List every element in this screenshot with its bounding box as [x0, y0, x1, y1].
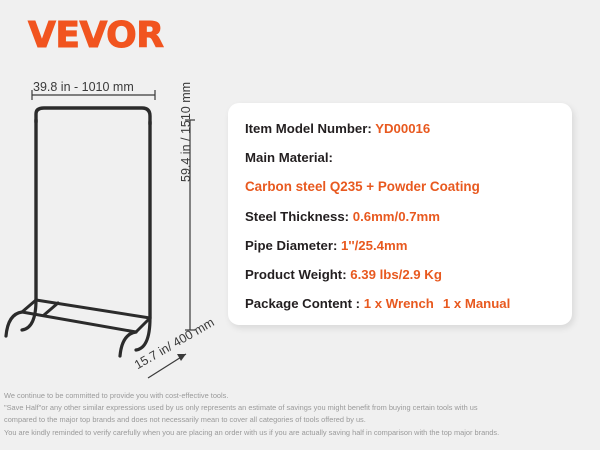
rack-base-shelf: [22, 300, 150, 332]
spec-value: YD00016: [375, 121, 430, 136]
disclaimer-line: compared to the major top brands and doe…: [4, 414, 598, 426]
spec-label: Product Weight:: [245, 267, 347, 282]
spec-label: Steel Thickness:: [245, 209, 349, 224]
disclaimer-line: We continue to be committed to provide y…: [4, 390, 598, 402]
spec-label: Item Model Number:: [245, 121, 372, 136]
specification-list: Item Model Number: YD00016Main Material:…: [245, 122, 562, 311]
disclaimer-footer: We continue to be committed to provide y…: [4, 390, 598, 439]
spec-row: Steel Thickness: 0.6mm/0.7mm: [245, 210, 562, 223]
product-spec-page: VEVOR: [0, 0, 600, 450]
spec-label: Main Material:: [245, 150, 333, 165]
disclaimer-line: You are kindly reminded to verify carefu…: [4, 427, 598, 439]
spec-value: Carbon steel Q235 + Powder Coating: [245, 179, 480, 194]
height-dimension-label: 59.4 in / 1510 mm: [179, 82, 193, 182]
spec-row: Carbon steel Q235 + Powder Coating: [245, 180, 562, 193]
spec-label: Pipe Diameter:: [245, 238, 337, 253]
spec-row: Product Weight: 6.39 lbs/2.9 Kg: [245, 268, 562, 281]
vevor-logo: VEVOR: [28, 18, 164, 54]
spec-row: Item Model Number: YD00016: [245, 122, 562, 135]
spec-label: Package Content :: [245, 296, 360, 311]
width-dimension-label: 39.8 in - 1010 mm: [33, 80, 134, 94]
spec-value: 6.39 lbs/2.9 Kg: [350, 267, 442, 282]
rack-frame: [36, 108, 150, 318]
spec-value: 1''/25.4mm: [341, 238, 407, 253]
spec-row: Package Content : 1 x Wrench1 x Manual: [245, 297, 562, 310]
spec-row: Main Material:: [245, 151, 562, 164]
spec-row: Pipe Diameter: 1''/25.4mm: [245, 239, 562, 252]
spec-value-secondary: 1 x Manual: [443, 296, 510, 311]
spec-value: 0.6mm/0.7mm: [353, 209, 440, 224]
specification-card: Item Model Number: YD00016Main Material:…: [228, 103, 572, 325]
spec-value: 1 x Wrench: [364, 296, 434, 311]
disclaimer-line: "Save Half"or any other similar expressi…: [4, 402, 598, 414]
